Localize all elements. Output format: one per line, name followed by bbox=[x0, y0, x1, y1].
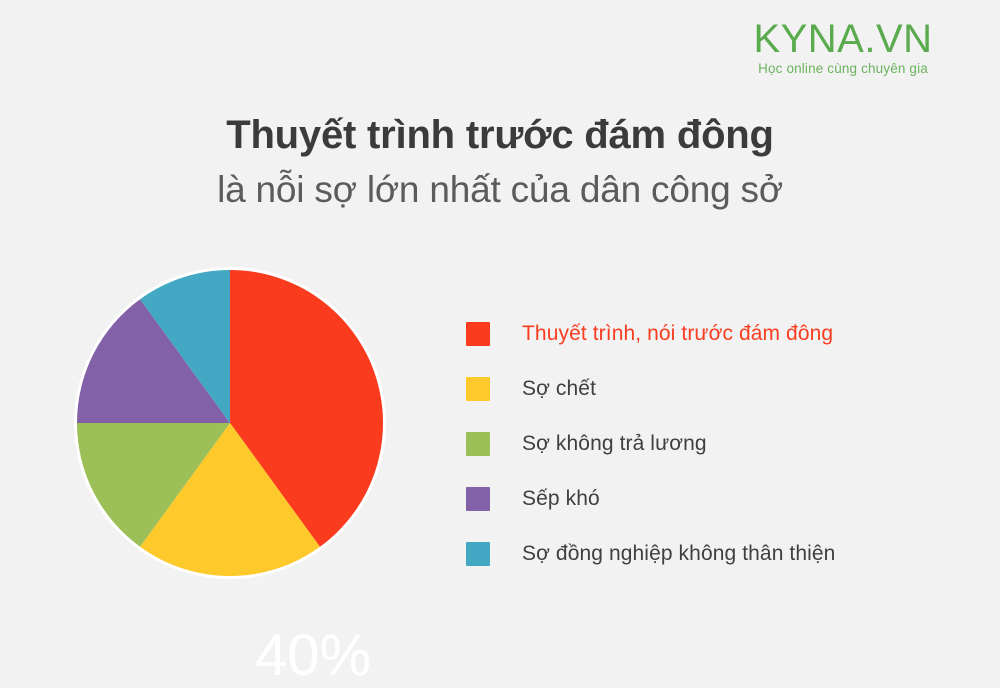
legend-item[interactable]: Sếp khó bbox=[466, 471, 966, 526]
headline-line-primary: Thuyết trình trước đám đông bbox=[0, 110, 1000, 160]
brand-logo: KYNA.VN Học online cùng chuyên gia bbox=[728, 18, 958, 76]
page-title: Thuyết trình trước đám đông là nỗi sợ lớ… bbox=[0, 110, 1000, 214]
legend-color-swatch bbox=[466, 432, 490, 456]
brand-wordmark: KYNA.VN bbox=[728, 18, 958, 60]
chart-legend: Thuyết trình, nói trước đám đôngSợ chếtS… bbox=[466, 306, 966, 581]
pie-value-label: 40% bbox=[255, 627, 371, 685]
legend-item[interactable]: Thuyết trình, nói trước đám đông bbox=[466, 306, 966, 361]
legend-item[interactable]: Sợ chết bbox=[466, 361, 966, 416]
legend-color-swatch bbox=[466, 322, 490, 346]
legend-item[interactable]: Sợ đồng nghiệp không thân thiện bbox=[466, 526, 966, 581]
legend-item-label: Sếp khó bbox=[522, 487, 600, 511]
legend-color-swatch bbox=[466, 487, 490, 511]
legend-item-label: Sợ không trả lương bbox=[522, 432, 707, 456]
legend-color-swatch bbox=[466, 542, 490, 566]
pie-chart-svg bbox=[60, 253, 410, 603]
pie-slice-group bbox=[77, 270, 383, 576]
pie-chart: 40% bbox=[60, 253, 410, 603]
legend-item-label: Sợ đồng nghiệp không thân thiện bbox=[522, 542, 835, 566]
brand-tagline: Học online cùng chuyên gia bbox=[728, 61, 958, 76]
legend-item-label: Sợ chết bbox=[522, 377, 596, 401]
legend-color-swatch bbox=[466, 377, 490, 401]
legend-item-label: Thuyết trình, nói trước đám đông bbox=[522, 322, 833, 346]
legend-item[interactable]: Sợ không trả lương bbox=[466, 416, 966, 471]
headline-line-secondary: là nỗi sợ lớn nhất của dân công sở bbox=[0, 166, 1000, 214]
